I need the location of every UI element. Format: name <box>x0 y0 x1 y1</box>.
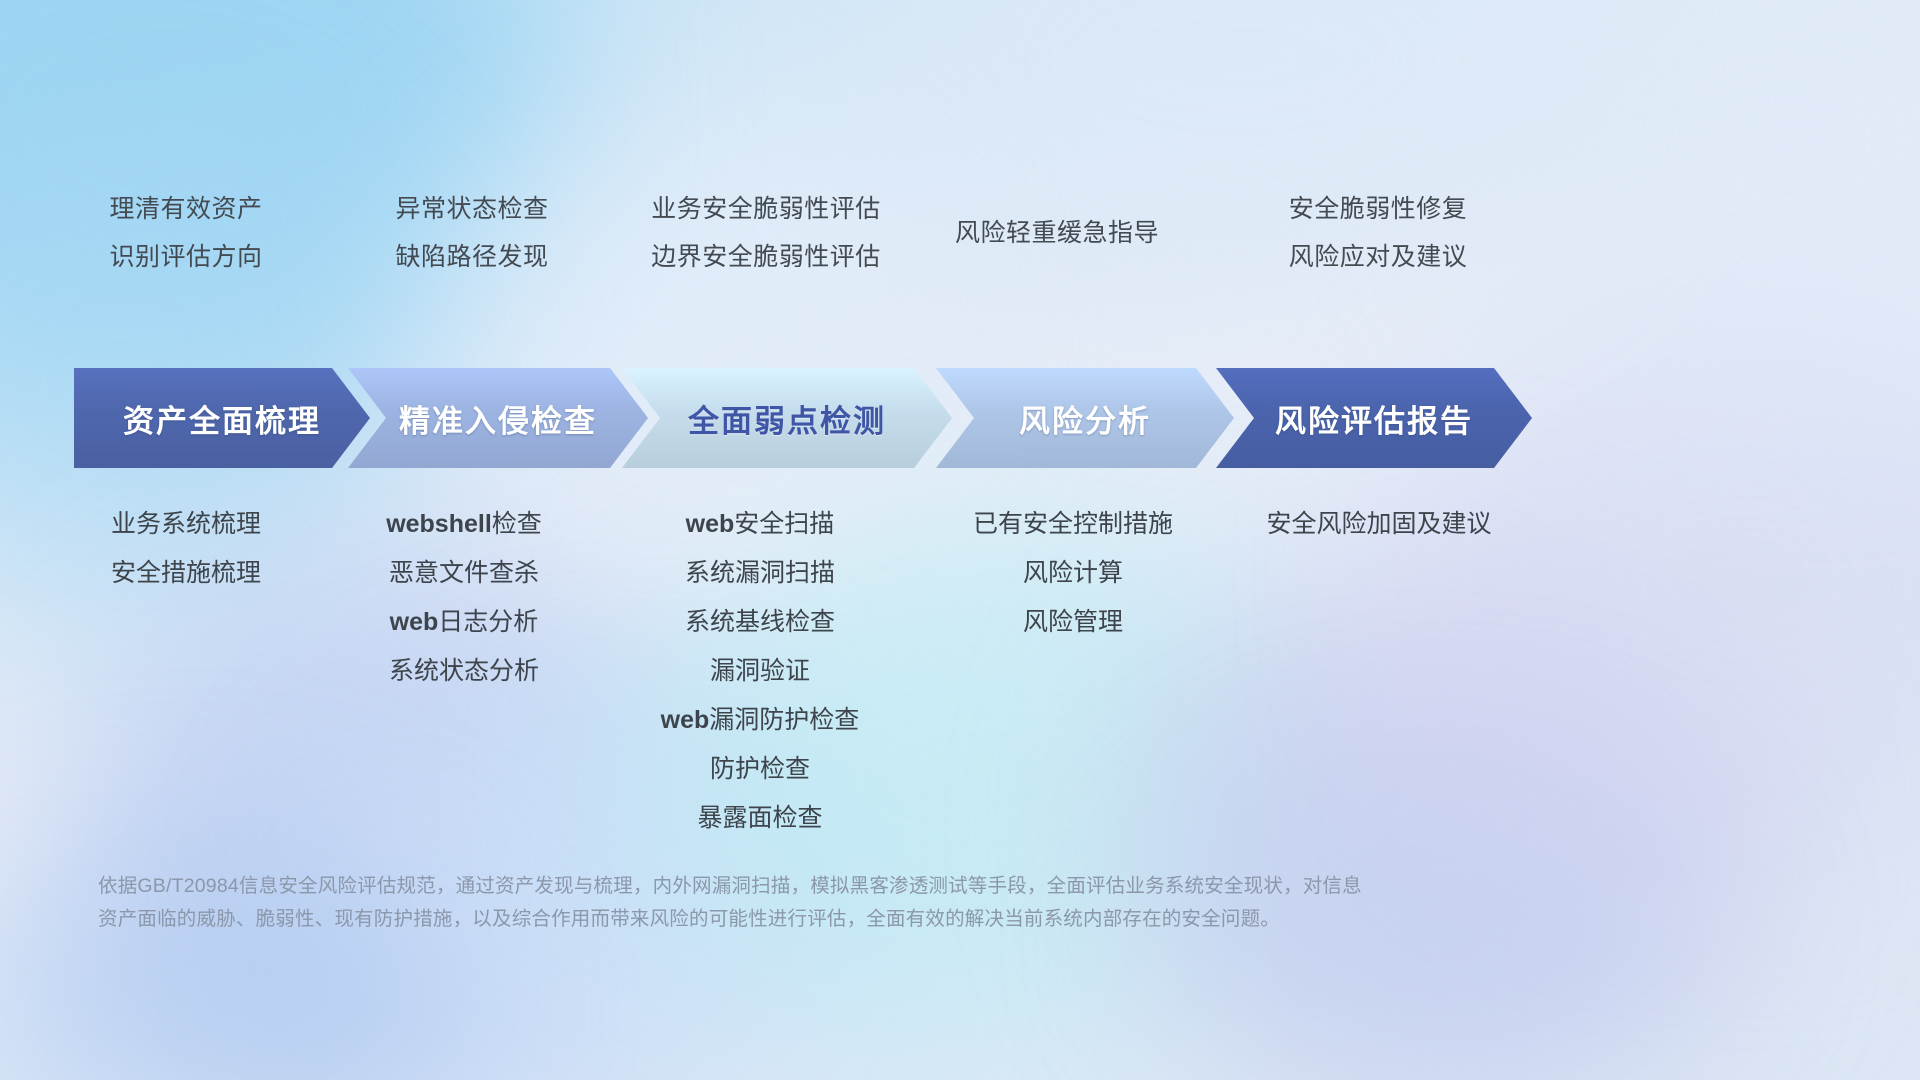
top-captions: 理清有效资产识别评估方向异常状态检查缺陷路径发现业务安全脆弱性评估边界安全脆弱性… <box>0 185 1920 295</box>
stage-items-5: 安全风险加固及建议 <box>1059 500 1699 549</box>
stage-item: 安全风险加固及建议 <box>1059 500 1699 549</box>
stage-item: web漏洞防护检查 <box>440 696 1080 745</box>
process-stage-label: 全面弱点检测 <box>688 396 886 441</box>
process-stage-4[interactable]: 风险分析 <box>936 368 1234 468</box>
top-caption-line: 安全脆弱性修复 <box>1078 185 1678 233</box>
process-stage-label: 风险评估报告 <box>1275 396 1473 441</box>
stage-item-emphasis: web <box>686 510 735 538</box>
top-caption-line: 风险应对及建议 <box>1078 233 1678 281</box>
stage-item-emphasis: web <box>390 608 439 636</box>
footer-line-2: 资产面临的威胁、脆弱性、现有防护措施，以及综合作用而带来风险的可能性进行评估，全… <box>98 903 1838 936</box>
process-stage-label: 精准入侵检查 <box>399 396 597 441</box>
process-stage-2[interactable]: 精准入侵检查 <box>348 368 648 468</box>
stage-item: 风险管理 <box>753 598 1393 647</box>
stage-item-emphasis: web <box>661 706 710 734</box>
stage-item: 漏洞验证 <box>440 647 1080 696</box>
process-stage-3[interactable]: 全面弱点检测 <box>622 368 952 468</box>
stage-item: 暴露面检查 <box>440 794 1080 843</box>
slide-canvas: 理清有效资产识别评估方向异常状态检查缺陷路径发现业务安全脆弱性评估边界安全脆弱性… <box>0 0 1920 1080</box>
stage-item-lists: 业务系统梳理安全措施梳理webshell检查恶意文件查杀web日志分析系统状态分… <box>0 500 1920 830</box>
footer-description: 依据GB/T20984信息安全风险评估规范，通过资产发现与梳理，内外网漏洞扫描，… <box>98 870 1838 936</box>
process-stage-1[interactable]: 资产全面梳理 <box>74 368 370 468</box>
footer-line-1: 依据GB/T20984信息安全风险评估规范，通过资产发现与梳理，内外网漏洞扫描，… <box>98 870 1838 903</box>
stage-item: 风险计算 <box>753 549 1393 598</box>
process-stage-label: 风险分析 <box>1019 396 1151 441</box>
stage-item: 防护检查 <box>440 745 1080 794</box>
stage-item-text: 漏洞防护检查 <box>709 706 859 734</box>
process-chevron-band: 资产全面梳理精准入侵检查全面弱点检测风险分析风险评估报告 <box>0 368 1920 468</box>
process-stage-5[interactable]: 风险评估报告 <box>1216 368 1532 468</box>
process-stage-label: 资产全面梳理 <box>123 396 321 441</box>
top-caption-group-5: 安全脆弱性修复风险应对及建议 <box>1078 185 1678 281</box>
